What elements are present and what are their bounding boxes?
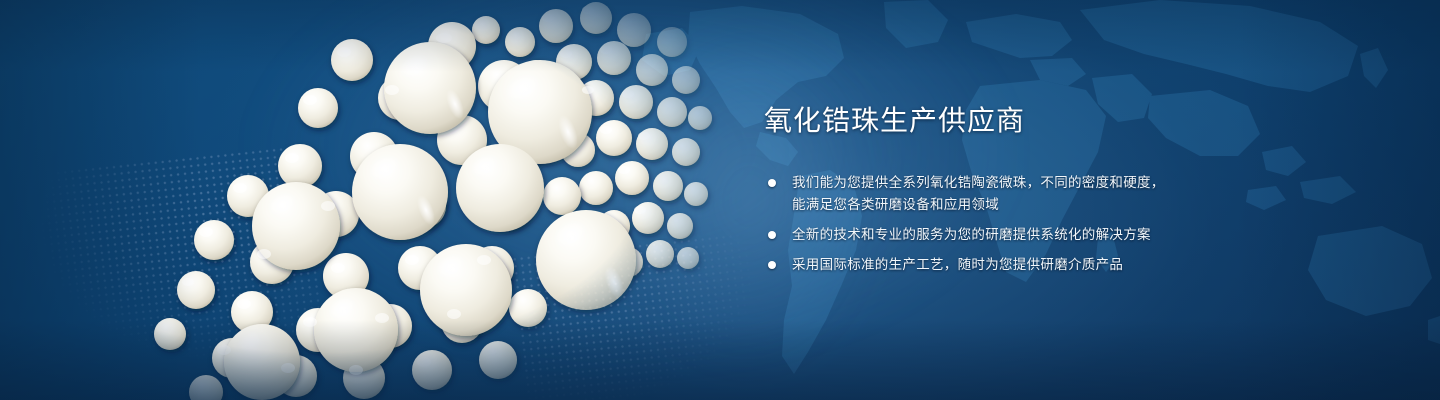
bullet-dot-icon xyxy=(768,261,776,269)
halftone-dots-left xyxy=(0,143,332,400)
hero-banner: 氧化锆珠生产供应商 我们能为您提供全系列氧化锆陶瓷微珠，不同的密度和硬度， 能满… xyxy=(0,0,1440,400)
list-item-line: 全新的技术和专业的服务为您的研磨提供系统化的解决方案 xyxy=(792,224,1364,246)
zirconia-beads-image xyxy=(0,0,760,400)
list-item-line: 采用国际标准的生产工艺，随时为您提供研磨介质产品 xyxy=(792,254,1364,276)
bullet-dot-icon xyxy=(768,179,776,187)
list-item: 全新的技术和专业的服务为您的研磨提供系统化的解决方案 xyxy=(764,224,1364,246)
feature-list: 我们能为您提供全系列氧化锆陶瓷微珠，不同的密度和硬度， 能满足您各类研磨设备和应… xyxy=(764,172,1364,276)
banner-copy: 氧化锆珠生产供应商 我们能为您提供全系列氧化锆陶瓷微珠，不同的密度和硬度， 能满… xyxy=(764,104,1364,276)
page-title: 氧化锆珠生产供应商 xyxy=(764,104,1364,138)
list-item: 采用国际标准的生产工艺，随时为您提供研磨介质产品 xyxy=(764,254,1364,276)
list-item-line: 能满足您各类研磨设备和应用领域 xyxy=(792,194,1364,216)
list-item-line: 我们能为您提供全系列氧化锆陶瓷微珠，不同的密度和硬度， xyxy=(792,172,1364,194)
bullet-dot-icon xyxy=(768,231,776,239)
list-item: 我们能为您提供全系列氧化锆陶瓷微珠，不同的密度和硬度， 能满足您各类研磨设备和应… xyxy=(764,172,1364,216)
